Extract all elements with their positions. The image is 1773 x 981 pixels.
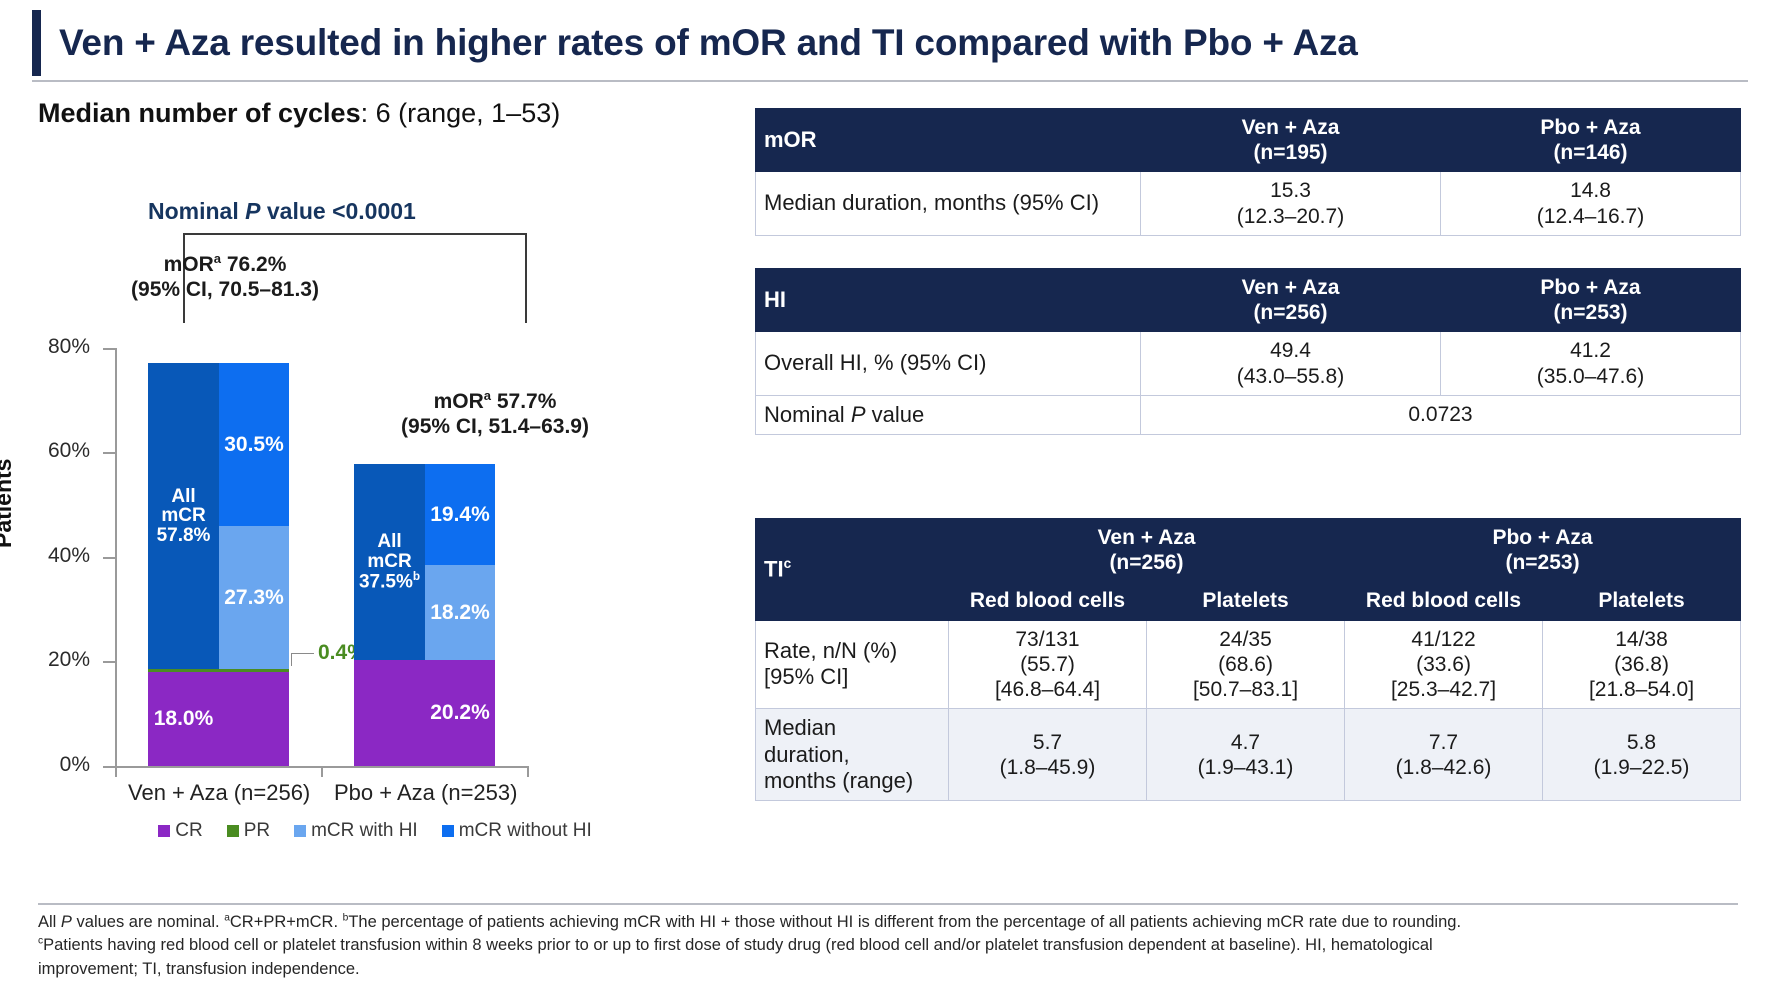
table-mor-header-row: mOR Ven + Aza (n=195) Pbo + Aza (n=146) [756, 109, 1741, 172]
table-mor-row-label: Median duration, months (95% CI) [756, 172, 1141, 235]
median-cycles-text: Median number of cycles: 6 (range, 1–53) [38, 98, 560, 129]
table-hi-cell-pbo: 41.2 (35.0–47.6) [1441, 332, 1741, 395]
legend-swatch-mcr-without-hi-icon [442, 825, 454, 837]
y-tick-label-60: 60% [48, 439, 90, 463]
table-hi: HI Ven + Aza (n=256) Pbo + Aza (n=253) O… [755, 268, 1741, 435]
bar-segment-pr-ven-right [219, 669, 289, 672]
bar-segment-pr-ven [148, 669, 219, 672]
y-tick-20 [103, 661, 117, 663]
y-tick-label-80: 80% [48, 335, 90, 359]
table-row: Overall HI, % (95% CI) 49.4 (43.0–55.8) … [756, 332, 1741, 395]
table-hi-corner-header: HI [756, 269, 1141, 332]
table-ti-cell-median-rbc-ven: 5.7 (1.8–45.9) [949, 709, 1147, 801]
x-tick-mid [321, 766, 323, 777]
legend-swatch-pr-icon [227, 825, 239, 837]
y-axis-title: Patients [0, 459, 17, 548]
table-row: Median duration, months (range) 5.7 (1.8… [756, 709, 1741, 801]
chart-panel: Median number of cycles: 6 (range, 1–53)… [0, 88, 660, 888]
table-ti-cell-rate-rbc-ven: 73/131 (55.7) [46.8–64.4] [949, 620, 1147, 709]
bar-column-pbo-right: 20.2% 18.2% 19.4% [425, 148, 495, 766]
slide-title-bar: Ven + Aza resulted in higher rates of mO… [0, 6, 1773, 80]
title-accent-bar [32, 10, 41, 76]
table-ti-subcol-rbc-pbo: Red blood cells [1345, 582, 1543, 620]
bar-segment-cr-ven: 18.0% [148, 672, 219, 766]
table-hi-col-pbo: Pbo + Aza (n=253) [1441, 269, 1741, 332]
table-hi-header-row: HI Ven + Aza (n=256) Pbo + Aza (n=253) [756, 269, 1741, 332]
footnote-line-1: All P values are nominal. aCR+PR+mCR. bT… [38, 911, 1744, 934]
y-tick-80 [103, 348, 117, 350]
title-divider [32, 80, 1748, 82]
legend-item-pr: PR [227, 820, 270, 842]
mcr-total-line2-ven: mCR [161, 506, 205, 525]
bar-column-ven-right: 27.3% 30.5% [219, 148, 289, 766]
footnote-line-3: improvement; TI, transfusion independenc… [38, 958, 1744, 981]
table-row: Median duration, months (95% CI) 15.3 (1… [756, 172, 1741, 235]
mcr-total-line3-ven: 57.8% [157, 526, 211, 545]
table-hi-row-label: Overall HI, % (95% CI) [756, 332, 1141, 395]
table-hi-cell-ven: 49.4 (43.0–55.8) [1141, 332, 1441, 395]
table-ti-subcol-rbc-ven: Red blood cells [949, 582, 1147, 620]
table-ti-cell-rate-rbc-pbo: 41/122 (33.6) [25.3–42.7] [1345, 620, 1543, 709]
table-row: Rate, n/N (%) [95% CI] 73/131 (55.7) [46… [756, 620, 1741, 709]
legend-label-mcr-without-hi: mCR without HI [459, 820, 592, 842]
footnote-line-2: cPatients having red blood cell or plate… [38, 934, 1744, 957]
x-tick-right [527, 766, 529, 777]
y-tick-label-0: 0% [60, 753, 90, 777]
mcr-total-line3-pbo: 37.5%b [359, 571, 420, 592]
pr-callout-leader [291, 653, 314, 666]
bar-segment-mcr-with-hi-ven: 27.3% [219, 526, 289, 669]
chart-legend: CR PR mCR with HI mCR without HI [115, 820, 635, 842]
footnote-marker-b: b [413, 570, 420, 583]
table-mor: mOR Ven + Aza (n=195) Pbo + Aza (n=146) … [755, 108, 1741, 236]
x-axis-label-ven: Ven + Aza (n=256) [128, 780, 308, 806]
legend-label-mcr-with-hi: mCR with HI [311, 820, 418, 842]
bar-segment-cr-pbo-right: 20.2% [425, 660, 495, 766]
table-ti-cell-median-platelets-pbo: 5.8 (1.9–22.5) [1543, 709, 1741, 801]
table-ti-cell-rate-platelets-ven: 24/35 (68.6) [50.7–83.1] [1147, 620, 1345, 709]
footnote-divider [38, 903, 1738, 905]
page-title: Ven + Aza resulted in higher rates of mO… [59, 22, 1358, 64]
bar-label-mcr-with-hi-pbo: 18.2% [430, 601, 490, 625]
bar-segment-mcr-without-hi-pbo: 19.4% [425, 464, 495, 565]
bar-column-ven-left: 18.0% All mCR 57.8% [148, 148, 219, 766]
table-ti-group-pbo: Pbo + Aza (n=253) [1345, 519, 1741, 582]
bar-segment-mcr-total-ven: All mCR 57.8% [148, 363, 219, 669]
table-mor-cell-ven: 15.3 (12.3–20.7) [1141, 172, 1441, 235]
table-mor-col-pbo: Pbo + Aza (n=146) [1441, 109, 1741, 172]
table-ti-subcol-platelets-ven: Platelets [1147, 582, 1345, 620]
table-hi-pvalue-value: 0.0723 [1141, 395, 1741, 434]
table-ti-row-label-median: Median duration, months (range) [756, 709, 949, 801]
bar-group-ven-aza: 18.0% All mCR 57.8% 27.3% 30.5% [148, 148, 289, 766]
table-ti-subcol-platelets-pbo: Platelets [1543, 582, 1741, 620]
x-axis-label-pbo: Pbo + Aza (n=253) [334, 780, 514, 806]
stacked-bar-chart: Nominal P value <0.0001 mORa 76.2% (95% … [0, 148, 660, 888]
table-ti-group-ven: Ven + Aza (n=256) [949, 519, 1345, 582]
table-mor-cell-pbo: 14.8 (12.4–16.7) [1441, 172, 1741, 235]
table-ti-corner-header: TIc [756, 519, 949, 621]
mcr-total-line1-pbo: All [377, 532, 401, 551]
legend-swatch-mcr-with-hi-icon [294, 825, 306, 837]
table-ti-cell-median-platelets-ven: 4.7 (1.9–43.1) [1147, 709, 1345, 801]
legend-label-cr: CR [175, 820, 202, 842]
median-cycles-value: : 6 (range, 1–53) [361, 98, 561, 128]
table-ti-cell-median-rbc-pbo: 7.7 (1.8–42.6) [1345, 709, 1543, 801]
table-ti-group-header-row: TIc Ven + Aza (n=256) Pbo + Aza (n=253) [756, 519, 1741, 582]
bar-label-cr-pbo: 20.2% [430, 701, 490, 725]
bar-label-mcr-without-hi-ven: 30.5% [224, 433, 284, 457]
legend-item-mcr-without-hi: mCR without HI [442, 820, 592, 842]
table-ti: TIc Ven + Aza (n=256) Pbo + Aza (n=253) … [755, 518, 1741, 801]
table-row: Nominal P value 0.0723 [756, 395, 1741, 434]
bar-segment-cr-pbo [354, 660, 425, 766]
legend-swatch-cr-icon [158, 825, 170, 837]
bar-label-mcr-without-hi-pbo: 19.4% [430, 503, 490, 527]
bar-group-pbo-aza: All mCR 37.5%b 20.2% 18.2% 19.4% [354, 148, 495, 766]
bar-segment-mcr-with-hi-pbo: 18.2% [425, 565, 495, 660]
footnotes: All P values are nominal. aCR+PR+mCR. bT… [38, 911, 1744, 981]
bar-label-mcr-with-hi-ven: 27.3% [224, 586, 284, 610]
table-ti-cell-rate-platelets-pbo: 14/38 (36.8) [21.8–54.0] [1543, 620, 1741, 709]
bar-segment-cr-ven-right [219, 672, 289, 766]
legend-label-pr: PR [244, 820, 270, 842]
legend-item-cr: CR [158, 820, 202, 842]
median-cycles-label: Median number of cycles [38, 98, 361, 128]
legend-item-mcr-with-hi: mCR with HI [294, 820, 418, 842]
bar-column-pbo-left: All mCR 37.5%b [354, 148, 425, 766]
footnote-marker-c: c [784, 556, 792, 571]
table-hi-pvalue-label: Nominal P value [756, 395, 1141, 434]
table-mor-col-ven: Ven + Aza (n=195) [1141, 109, 1441, 172]
y-tick-60 [103, 452, 117, 454]
y-tick-label-40: 40% [48, 544, 90, 568]
mcr-total-line2-pbo: mCR [367, 552, 411, 571]
bar-segment-mcr-total-pbo: All mCR 37.5%b [354, 464, 425, 660]
x-tick-left [115, 766, 117, 777]
table-hi-col-ven: Ven + Aza (n=256) [1141, 269, 1441, 332]
bar-label-cr-ven: 18.0% [154, 707, 214, 731]
y-tick-40 [103, 557, 117, 559]
bar-segment-mcr-without-hi-ven: 30.5% [219, 363, 289, 526]
y-tick-label-20: 20% [48, 648, 90, 672]
table-mor-corner-header: mOR [756, 109, 1141, 172]
mcr-total-line1-ven: All [171, 487, 195, 506]
table-ti-row-label-rate: Rate, n/N (%) [95% CI] [756, 620, 949, 709]
